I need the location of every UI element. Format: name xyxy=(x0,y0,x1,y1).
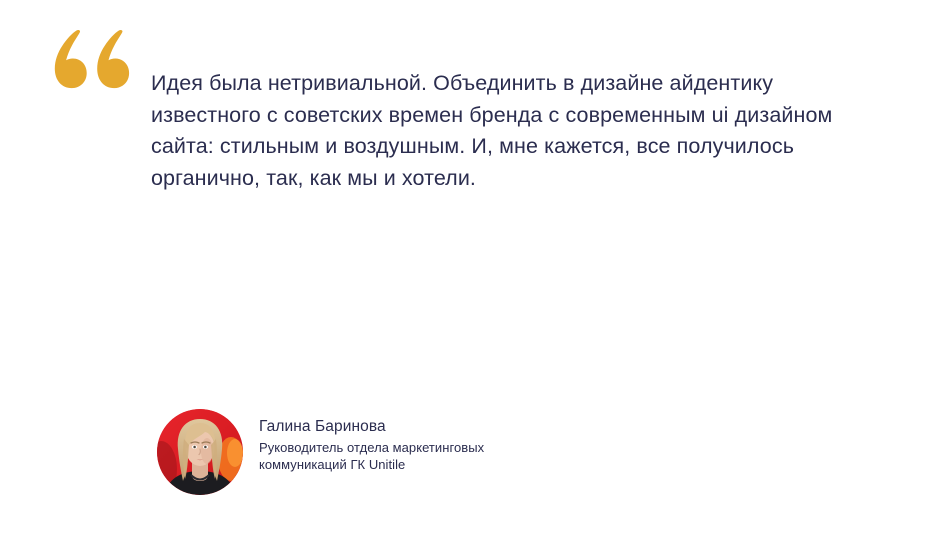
attribution: Галина Баринова Руководитель отдела марк… xyxy=(157,409,484,495)
person-name: Галина Баринова xyxy=(259,417,484,437)
quote-body: Идея была нетривиальной. Объединить в ди… xyxy=(151,68,851,194)
person-role: Руководитель отдела маркетинговых коммун… xyxy=(259,439,484,473)
avatar xyxy=(157,409,243,495)
quote-text: Идея была нетривиальной. Объединить в ди… xyxy=(151,68,851,194)
testimonial-slide: Идея была нетривиальной. Объединить в ди… xyxy=(0,0,950,550)
attribution-text: Галина Баринова Руководитель отдела марк… xyxy=(259,409,484,473)
quote-open-icon xyxy=(46,28,132,108)
